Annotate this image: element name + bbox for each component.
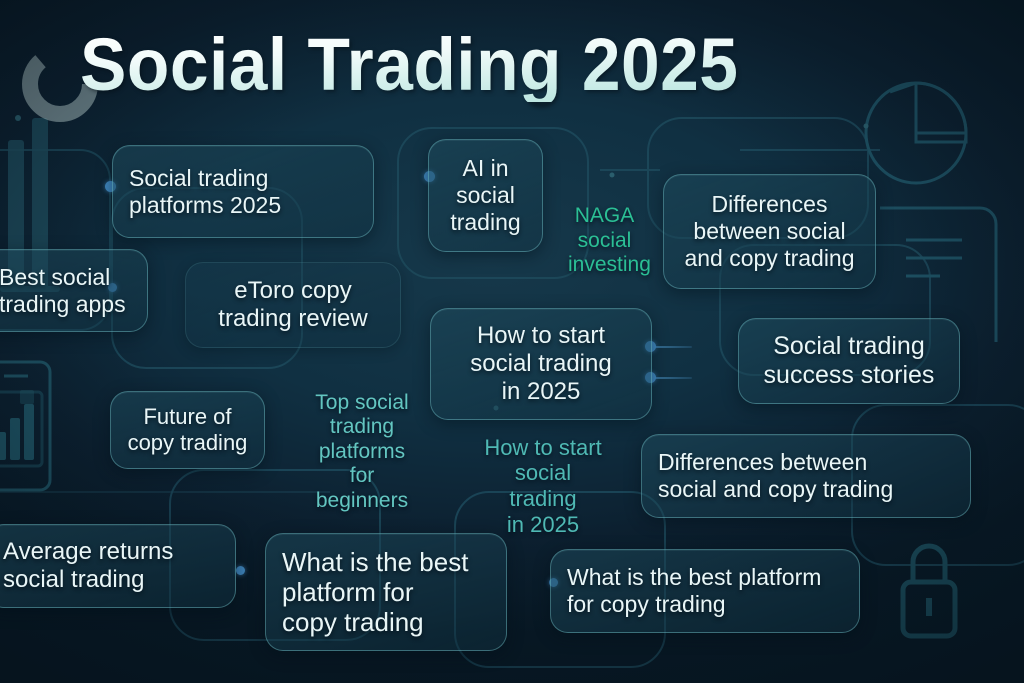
node-label: AI in social trading <box>445 155 526 235</box>
pie-chart-icon <box>866 83 966 183</box>
node-how-to-start-social-trading-in-2025-alt[interactable]: How to start social trading in 2025 <box>464 440 622 532</box>
node-label: eToro copy trading review <box>202 277 384 333</box>
node-what-is-the-best-platform-for-copy-trading[interactable]: What is the best platform for copy tradi… <box>265 533 507 651</box>
node-label: How to start social trading in 2025 <box>447 322 635 405</box>
node-label: Social trading success stories <box>755 332 943 390</box>
mobile-chart-icon <box>0 362 50 490</box>
connector-dot <box>236 566 245 575</box>
node-label: Top social trading platforms for beginne… <box>306 391 418 513</box>
node-how-to-start-social-trading-in-2025[interactable]: How to start social trading in 2025 <box>430 308 652 420</box>
node-label: NAGA social investing <box>568 204 641 277</box>
node-social-trading-platforms-2025[interactable]: Social trading platforms 2025 <box>112 145 374 238</box>
node-ai-in-social-trading[interactable]: AI in social trading <box>428 139 543 252</box>
node-naga-social-investing[interactable]: NAGA social investing <box>552 195 657 287</box>
node-best-social-trading-apps[interactable]: Best social trading apps <box>0 249 148 332</box>
connector-line <box>650 346 692 348</box>
node-etoro-copy-trading-review[interactable]: eToro copy trading review <box>185 262 401 348</box>
mindmap-canvas: Social Trading 2025 Social Trading 2025 … <box>0 0 1024 683</box>
node-label: What is the best platform for copy tradi… <box>282 547 490 637</box>
node-label: Best social trading apps <box>0 264 131 317</box>
node-label: Social trading platforms 2025 <box>129 165 357 218</box>
lock-icon <box>903 546 955 636</box>
connector-line <box>650 377 692 379</box>
node-label: What is the best platform for copy tradi… <box>567 564 843 617</box>
node-social-trading-success-stories[interactable]: Social trading success stories <box>738 318 960 404</box>
node-label: Future of copy trading <box>127 404 248 455</box>
node-top-social-trading-platforms-for-beginners[interactable]: Top social trading platforms for beginne… <box>290 393 434 511</box>
node-differences-between-social-and-copy-trading[interactable]: Differences between social and copy trad… <box>663 174 876 289</box>
page-title: Social Trading 2025 <box>80 28 738 102</box>
node-what-is-the-best-platform-for-copy-trading-wide[interactable]: What is the best platform for copy tradi… <box>550 549 860 633</box>
node-label: How to start social trading in 2025 <box>480 435 606 537</box>
node-differences-between-social-and-copy-trading-wide[interactable]: Differences between social and copy trad… <box>641 434 971 518</box>
node-label: Average returns social trading <box>3 538 219 594</box>
node-future-of-copy-trading[interactable]: Future of copy trading <box>110 391 265 469</box>
node-average-returns-social-trading[interactable]: Average returns social trading <box>0 524 236 608</box>
node-label: Differences between social and copy trad… <box>680 191 859 271</box>
node-label: Differences between social and copy trad… <box>658 449 954 502</box>
mobile-bars-icon <box>0 390 34 460</box>
